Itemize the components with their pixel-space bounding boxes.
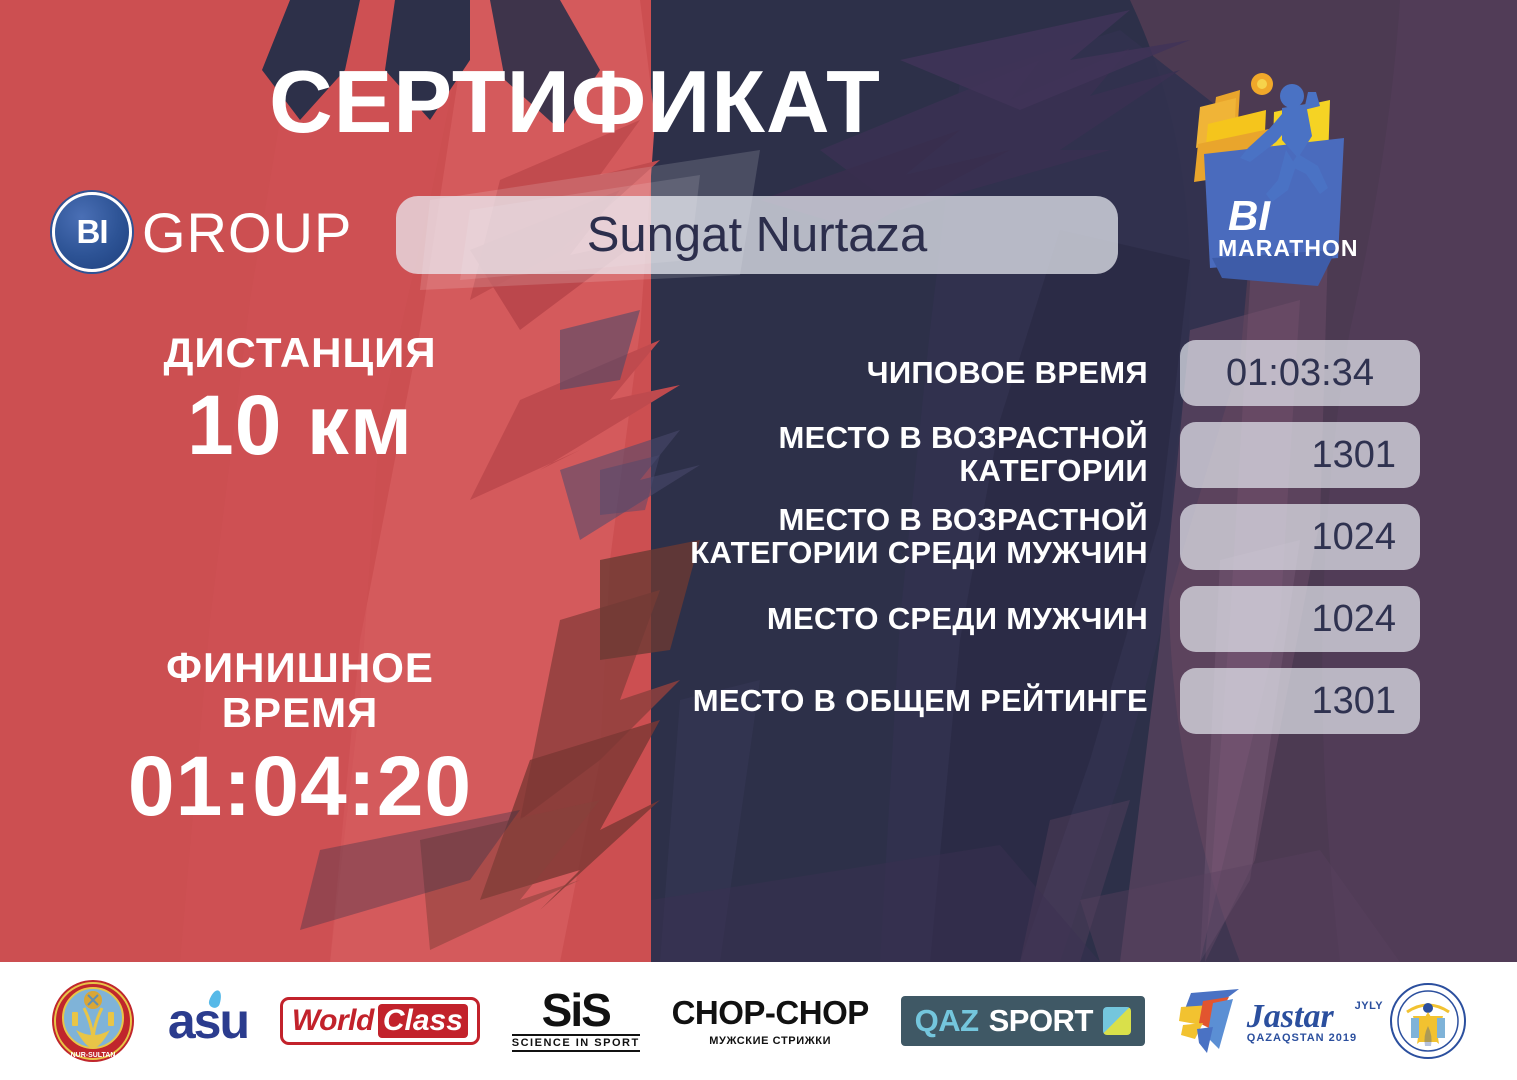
result-label: МЕСТО В ВОЗРАСТНОЙ КАТЕГОРИИ СРЕДИ МУЖЧИ…	[600, 504, 1180, 570]
finish-time-label-line1: ФИНИШНОЕ	[0, 645, 600, 690]
result-value: 1024	[1311, 516, 1396, 559]
result-row-chip-time: ЧИПОВОЕ ВРЕМЯ 01:03:34	[600, 340, 1420, 406]
qazsport-square-icon	[1103, 1007, 1131, 1035]
bi-group-wordmark: GROUP	[142, 200, 352, 265]
marathon-bi-text: BI	[1228, 192, 1271, 239]
result-label: МЕСТО СРЕДИ МУЖЧИН	[600, 603, 1180, 636]
marathon-word-text: MARATHON	[1218, 235, 1358, 261]
bi-marathon-logo: BI MARATHON	[1178, 62, 1378, 307]
result-label: МЕСТО В ОБЩЕМ РЕЙТИНГЕ	[600, 685, 1180, 718]
qazsport-word1: QAZ	[915, 1003, 979, 1039]
sponsor-sis: SiS SCIENCE IN SPORT	[512, 990, 640, 1052]
chop-chop-wordmark: CHOP-CHOP	[672, 996, 869, 1029]
sponsor-jastar-jyly: Jastar JYLY QAZAQSTAN 2019	[1177, 983, 1357, 1059]
sponsor-footer: NUR-SULTAN asu World Class SiS SCIENCE I…	[0, 962, 1517, 1080]
finish-time-value: 01:04:20	[0, 742, 600, 830]
distance-value: 10 км	[0, 381, 600, 469]
bi-group-logo: BI GROUP	[52, 192, 352, 272]
jastar-bird-icon	[1177, 983, 1243, 1059]
certificate: СЕРТИФИКАТ BI GROUP Sungat Nurtaza	[0, 0, 1517, 1080]
jastar-sub-text: QAZAQSTAN 2019	[1247, 1032, 1357, 1044]
qazsport-word2: SPORT	[989, 1003, 1093, 1039]
sponsor-nur-sultan: NUR-SULTAN	[50, 978, 136, 1064]
certificate-body: СЕРТИФИКАТ BI GROUP Sungat Nurtaza	[0, 0, 1517, 962]
participant-name: Sungat Nurtaza	[587, 207, 928, 263]
finish-time-block: ФИНИШНОЕ ВРЕМЯ 01:04:20	[0, 645, 600, 830]
result-row-men-place: МЕСТО СРЕДИ МУЖЧИН 1024	[600, 586, 1420, 652]
world-class-word1: World	[292, 1004, 374, 1038]
participant-name-field: Sungat Nurtaza	[396, 196, 1118, 274]
result-value: 1301	[1311, 434, 1396, 477]
sis-wordmark: SiS	[512, 990, 640, 1031]
sponsor-asu: asu	[168, 992, 248, 1050]
result-value: 1024	[1311, 598, 1396, 641]
distance-label: ДИСТАНЦИЯ	[0, 330, 600, 375]
sponsor-world-class: World Class	[280, 997, 480, 1045]
result-value-pill: 1024	[1180, 586, 1420, 652]
distance-block: ДИСТАНЦИЯ 10 км	[0, 330, 600, 470]
result-value-pill: 1024	[1180, 504, 1420, 570]
result-value: 1301	[1311, 680, 1396, 723]
result-row-age-category-place: МЕСТО В ВОЗРАСТНОЙ КАТЕГОРИИ 1301	[600, 422, 1420, 488]
result-value: 01:03:34	[1226, 352, 1374, 395]
bi-badge-icon: BI	[52, 192, 132, 272]
results-table: ЧИПОВОЕ ВРЕМЯ 01:03:34 МЕСТО В ВОЗРАСТНО…	[600, 340, 1420, 750]
result-value-pill: 1301	[1180, 668, 1420, 734]
result-label: МЕСТО В ВОЗРАСТНОЙ КАТЕГОРИИ	[600, 422, 1180, 488]
sponsor-chop-chop: CHOP-CHOP МУЖСКИЕ СТРИЖКИ	[672, 996, 869, 1047]
nur-sultan-label: NUR-SULTAN	[71, 1052, 116, 1059]
result-value-pill: 1301	[1180, 422, 1420, 488]
result-label: ЧИПОВОЕ ВРЕМЯ	[600, 357, 1180, 390]
sponsor-ministry	[1389, 982, 1467, 1060]
sis-tagline: SCIENCE IN SPORT	[512, 1034, 640, 1052]
world-class-word2: Class	[378, 1004, 468, 1038]
jastar-jyly-text: JYLY	[1355, 1000, 1384, 1012]
result-row-overall-place: МЕСТО В ОБЩЕМ РЕЙТИНГЕ 1301	[600, 668, 1420, 734]
page-title: СЕРТИФИКАТ	[0, 58, 1150, 146]
chop-chop-tagline: МУЖСКИЕ СТРИЖКИ	[672, 1035, 869, 1047]
sponsor-qazsport: QAZ SPORT	[901, 996, 1145, 1046]
result-value-pill: 01:03:34	[1180, 340, 1420, 406]
result-row-age-category-men-place: МЕСТО В ВОЗРАСТНОЙ КАТЕГОРИИ СРЕДИ МУЖЧИ…	[600, 504, 1420, 570]
jastar-wordmark: Jastar	[1247, 998, 1334, 1035]
finish-time-label-line2: ВРЕМЯ	[0, 690, 600, 735]
